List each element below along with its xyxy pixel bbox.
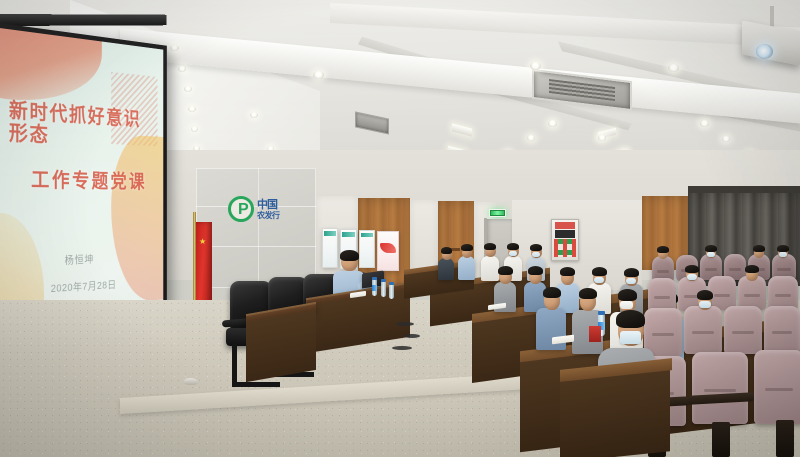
face-mask (509, 251, 517, 256)
projector-lens-icon (756, 44, 773, 59)
flag-star-icon: ★ (199, 238, 206, 245)
attendee-hair (592, 267, 607, 276)
auditorium-seat[interactable] (724, 306, 762, 354)
ceiling-downlight (527, 135, 535, 141)
leather-chair-leg (232, 344, 237, 384)
ceiling-downlight (668, 64, 679, 72)
ceiling-downlight (700, 120, 709, 127)
ceiling-downlight (188, 106, 196, 112)
company-logo: 中国 农发行 (228, 194, 290, 230)
face-mask (626, 278, 636, 284)
wall-tile-seam (196, 246, 316, 247)
attendee-hair (618, 289, 637, 301)
front-table-front (246, 310, 316, 382)
ceiling-downlight (170, 45, 179, 51)
attendee-hair (528, 266, 543, 275)
ceiling-downlight (178, 66, 186, 72)
auditorium-seat[interactable] (648, 278, 676, 312)
slide-decoration-banner (0, 27, 101, 107)
attendee-hair (441, 247, 452, 254)
ceiling-downlight (191, 126, 198, 132)
logo-text-bottom: 农发行 (257, 210, 280, 221)
floor-cable (404, 334, 420, 338)
attendee-hair (753, 245, 765, 252)
attendee-hair (657, 246, 669, 253)
leather-chair-leg (232, 382, 280, 387)
attendee-hair (697, 290, 713, 300)
control-panel-header (555, 222, 575, 228)
bottle-cap (598, 311, 605, 315)
slide-title-line2: 工作专题党课 (31, 164, 162, 194)
bottle-cap (389, 282, 394, 285)
bottle-cap (381, 279, 386, 282)
face-mask (532, 252, 540, 257)
auditorium-seat-base (776, 420, 794, 457)
auditorium-seat[interactable] (764, 306, 800, 354)
rollup-banner-teal (322, 228, 338, 268)
screen-roller-housing (0, 14, 167, 26)
control-panel-indicators (554, 239, 576, 257)
auditorium-seat[interactable] (684, 306, 722, 354)
bottle-cap (372, 277, 377, 280)
ceiling-downlight (548, 120, 557, 127)
logo-p-mark-icon (228, 196, 254, 222)
presenter-hair (340, 250, 359, 261)
face-mask (699, 301, 711, 308)
face-mask (620, 301, 633, 309)
water-bottle[interactable] (381, 281, 386, 297)
face-mask (594, 277, 604, 283)
attendee-body (458, 256, 475, 280)
slide-date: 2020年7月28日 (51, 277, 117, 296)
red-folder[interactable] (589, 326, 601, 342)
attendee-hair (777, 245, 789, 252)
conference-hall-photo: 中国 农发行 新时代抓好意识形态 工作专题党课 杨恒坤 2020年7月28日 ★ (0, 0, 800, 457)
attendee-hair (560, 267, 575, 276)
ceiling-downlight (530, 62, 541, 70)
attendee-hair (705, 245, 717, 252)
foreground-attendee-hair (616, 310, 645, 328)
auditorium-seat-base (712, 422, 730, 457)
auditorium-seat[interactable] (738, 276, 766, 310)
bottle-label (372, 285, 377, 291)
auditorium-seat[interactable] (768, 276, 798, 310)
emergency-exit-sign (489, 209, 506, 217)
attendee-hair (745, 265, 759, 273)
attendee-hair (624, 268, 639, 277)
water-bottle[interactable] (389, 284, 394, 299)
rollup-banner-teal (359, 230, 375, 268)
auditorium-seat[interactable] (754, 350, 800, 424)
ceiling-downlight (184, 86, 192, 92)
curtain-top-valance (688, 186, 800, 193)
ceiling-downlight (250, 112, 258, 118)
slide-author: 杨恒坤 (65, 252, 94, 268)
attendee-hair (484, 243, 496, 250)
floor-cable (396, 322, 414, 326)
attendee-hair (461, 244, 473, 251)
shoes-on-floor (184, 378, 198, 385)
face-mask (779, 252, 787, 257)
attendee-hair (530, 244, 542, 251)
ceiling-downlight (313, 71, 324, 79)
attendee-hair (498, 266, 513, 275)
floor-cable (392, 346, 412, 350)
slide-decoration-right (111, 134, 163, 303)
control-panel-display (555, 230, 576, 237)
ceiling-downlight (722, 136, 730, 142)
attendee-hair (685, 265, 699, 273)
rollup-banner-red (377, 231, 399, 271)
attendee-body (438, 258, 454, 280)
face-mask (707, 252, 715, 257)
attendee-body (481, 256, 499, 281)
auditorium-seat[interactable] (692, 352, 748, 424)
attendee-body (536, 308, 566, 350)
face-mask (687, 274, 697, 280)
attendee-hair (507, 243, 519, 250)
face-mask (620, 331, 641, 344)
ceiling-downlight (598, 135, 606, 141)
attendee-hair (543, 287, 561, 298)
attendee-hair (579, 288, 597, 299)
wall-control-panel[interactable] (551, 219, 579, 261)
